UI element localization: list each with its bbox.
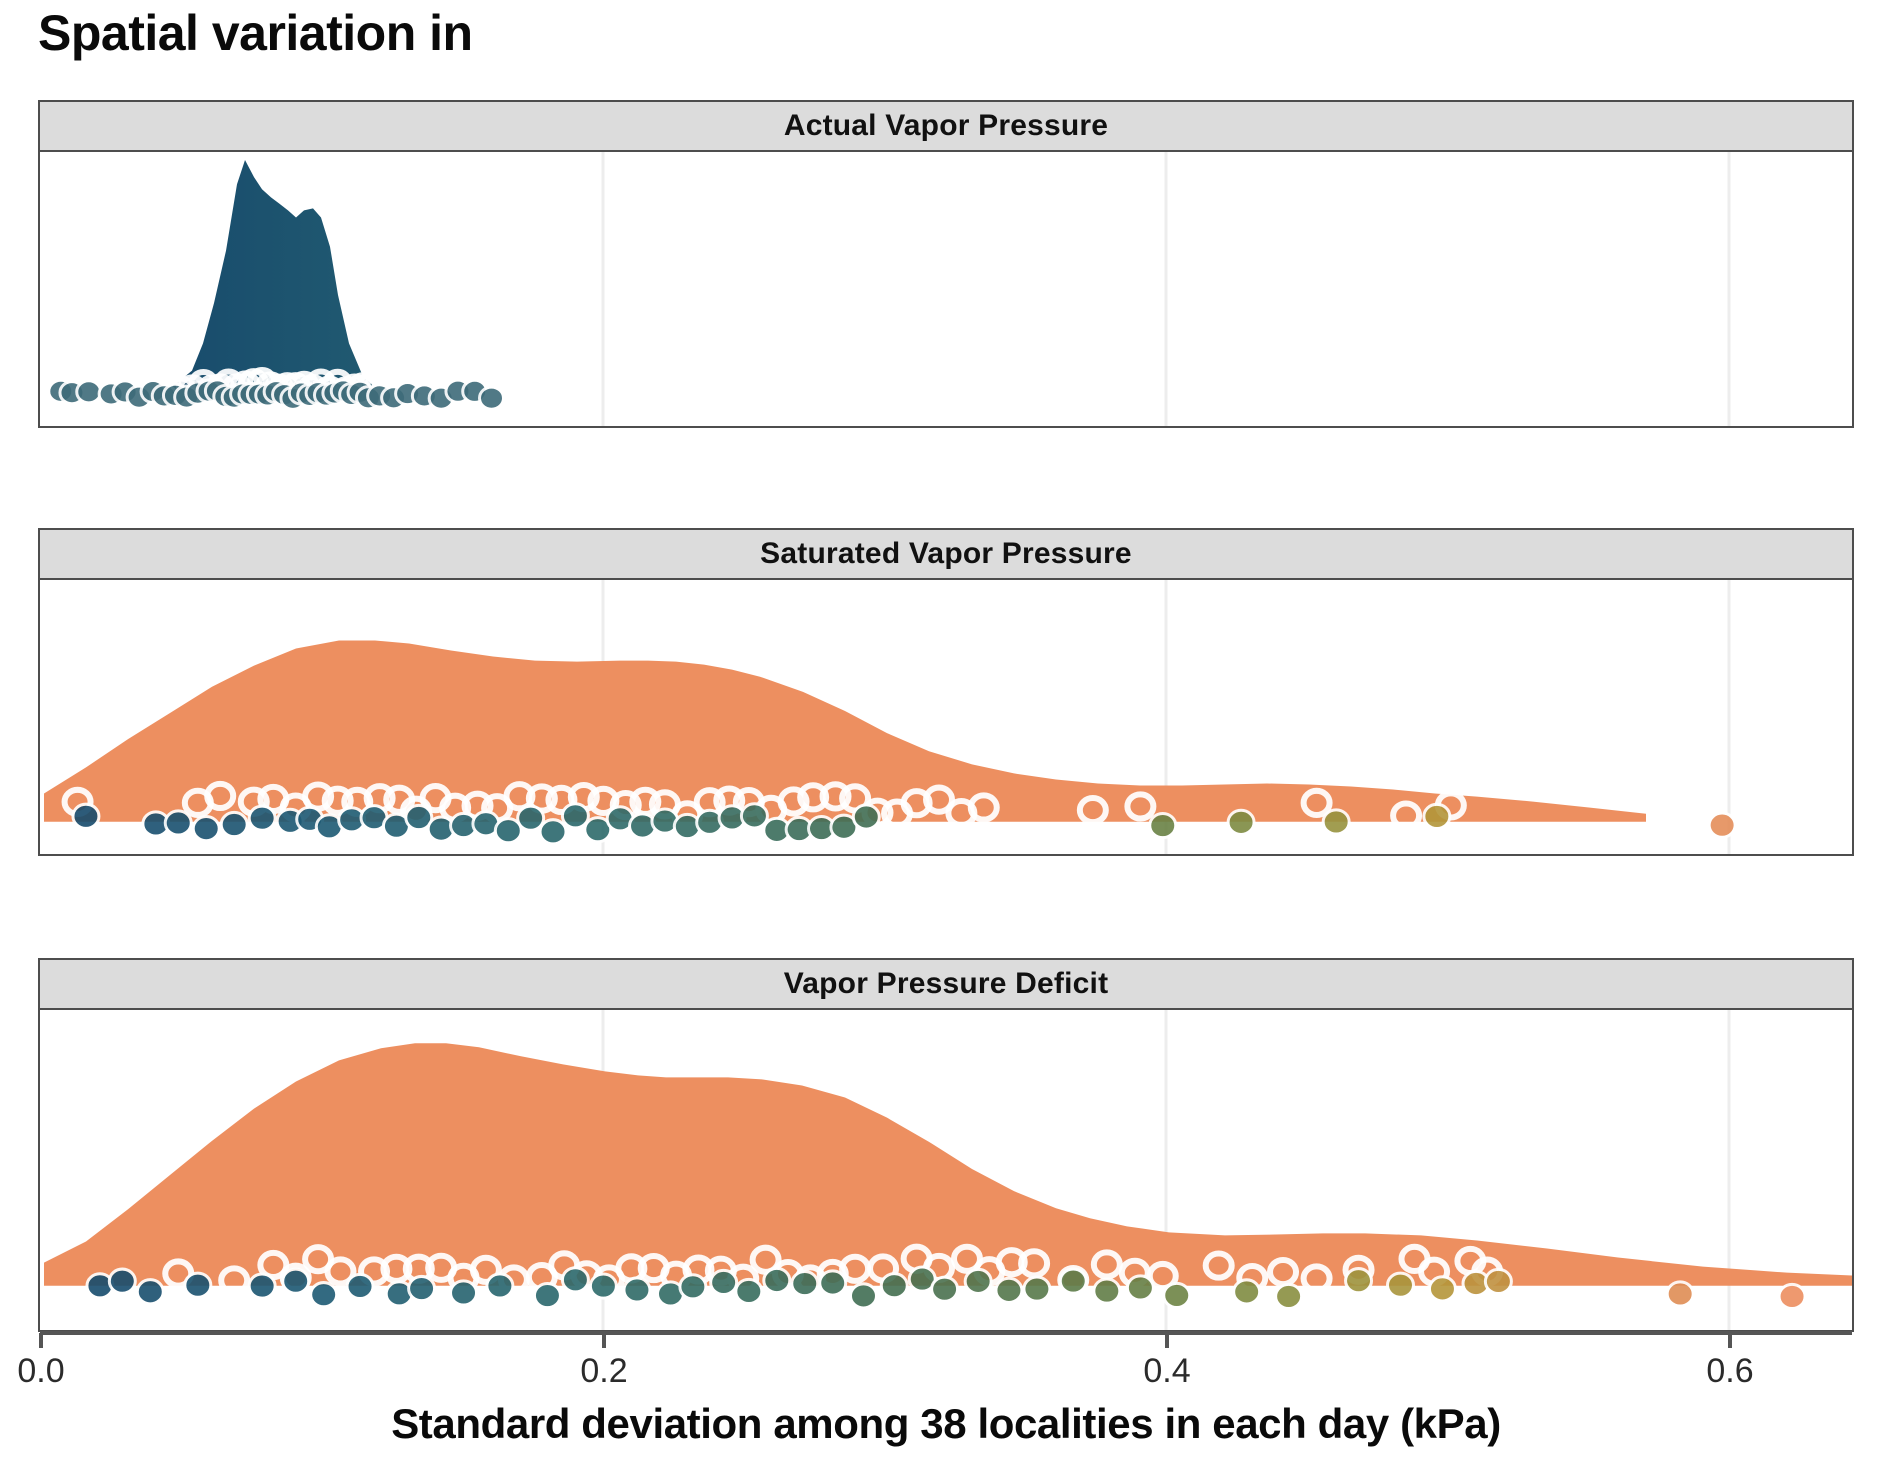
rug-filled-dot xyxy=(996,1278,1022,1302)
rug-filled-dot xyxy=(77,381,101,403)
rug-filled-dot xyxy=(347,1274,373,1298)
rug-filled-dot xyxy=(165,811,191,835)
rug-dots-vpd xyxy=(40,1010,1852,1330)
rug-open-dot xyxy=(1393,803,1419,827)
rug-filled-dot xyxy=(1424,804,1450,828)
rug-filled-dot xyxy=(853,805,879,829)
rug-filled-dot xyxy=(221,812,247,836)
x-axis-line xyxy=(38,1331,1854,1349)
panel-strip-saturated-vapor-pressure: Saturated Vapor Pressure xyxy=(38,528,1854,580)
rug-filled-dot xyxy=(1779,1284,1805,1308)
rug-filled-dot xyxy=(562,1268,588,1292)
rug-filled-dot xyxy=(741,804,767,828)
rug-filled-dot xyxy=(451,1281,477,1305)
rug-open-dot xyxy=(221,1268,247,1292)
rug-filled-dot xyxy=(1150,814,1176,838)
rug-filled-dot xyxy=(1429,1277,1455,1301)
rug-filled-dot xyxy=(820,1271,846,1295)
rug-open-dot xyxy=(1206,1254,1232,1278)
rug-filled-dot xyxy=(881,1274,907,1298)
rug-filled-dot xyxy=(711,1270,737,1294)
plot-area-actual-vapor-pressure xyxy=(38,152,1854,428)
rug-filled-dot xyxy=(137,1280,163,1304)
rug-filled-dot xyxy=(1234,1280,1260,1304)
x-axis xyxy=(38,1331,1854,1351)
rug-filled-dot xyxy=(249,1274,275,1298)
rug-open-dot xyxy=(1127,794,1153,818)
panel-saturated-vapor-pressure: Saturated Vapor Pressure xyxy=(38,528,1854,856)
rug-filled-dot xyxy=(1667,1282,1693,1306)
rug-filled-dot xyxy=(764,1268,790,1292)
rug-open-dot xyxy=(1304,1266,1330,1290)
panel-actual-vapor-pressure: Actual Vapor Pressure xyxy=(38,100,1854,428)
rug-filled-dot xyxy=(680,1275,706,1299)
rug-filled-dot xyxy=(185,1273,211,1297)
rug-filled-dot xyxy=(1164,1283,1190,1307)
rug-filled-dot xyxy=(965,1269,991,1293)
rug-filled-dot xyxy=(311,1283,337,1307)
rug-filled-dot xyxy=(409,1276,435,1300)
rug-open-dot xyxy=(1270,1260,1296,1284)
rug-filled-dot xyxy=(1024,1277,1050,1301)
rug-filled-dot xyxy=(249,806,275,830)
figure-title: Spatial variation in xyxy=(38,6,473,61)
panel-vapor-pressure-deficit: Vapor Pressure Deficit xyxy=(38,958,1854,1332)
rug-filled-dot xyxy=(109,1269,135,1293)
rug-filled-dot xyxy=(480,387,504,409)
plot-area-vapor-pressure-deficit xyxy=(38,1010,1854,1332)
rug-filled-dot xyxy=(1094,1279,1120,1303)
rug-filled-dot xyxy=(1709,813,1735,837)
plot-area-saturated-vapor-pressure xyxy=(38,580,1854,856)
x-tick-label-0: 0.0 xyxy=(17,1352,64,1391)
panel-strip-label: Actual Vapor Pressure xyxy=(784,109,1108,143)
panel-strip-actual-vapor-pressure: Actual Vapor Pressure xyxy=(38,100,1854,152)
rug-filled-dot xyxy=(1276,1284,1302,1308)
rug-filled-dot xyxy=(487,1274,513,1298)
rug-filled-dot xyxy=(1346,1269,1372,1293)
rug-filled-dot xyxy=(1387,1273,1413,1297)
rug-filled-dot xyxy=(792,1272,818,1296)
rug-filled-dot xyxy=(1228,810,1254,834)
x-tick-label-3: 0.6 xyxy=(1706,1352,1753,1391)
rug-filled-dot xyxy=(624,1278,650,1302)
rug-filled-dot xyxy=(1127,1276,1153,1300)
x-axis-title: Standard deviation among 38 localities i… xyxy=(0,1400,1892,1448)
rug-filled-dot xyxy=(73,804,99,828)
rug-filled-dot xyxy=(540,820,566,844)
rug-filled-dot xyxy=(736,1279,762,1303)
rug-dots-avp xyxy=(40,152,1852,426)
rug-open-dot xyxy=(1304,791,1330,815)
rug-filled-dot xyxy=(932,1277,958,1301)
rug-filled-dot xyxy=(1323,810,1349,834)
rug-filled-dot xyxy=(590,1274,616,1298)
panel-strip-label: Vapor Pressure Deficit xyxy=(784,967,1109,1001)
panel-strip-label: Saturated Vapor Pressure xyxy=(760,537,1132,571)
rug-filled-dot xyxy=(1060,1269,1086,1293)
rug-dots-svp xyxy=(40,580,1852,854)
x-tick-label-2: 0.4 xyxy=(1143,1352,1190,1391)
rug-filled-dot xyxy=(1485,1269,1511,1293)
rug-open-dot xyxy=(1080,798,1106,822)
rug-filled-dot xyxy=(283,1269,309,1293)
rug-filled-dot xyxy=(534,1283,560,1307)
rug-open-dot xyxy=(1094,1252,1120,1276)
panel-strip-vapor-pressure-deficit: Vapor Pressure Deficit xyxy=(38,958,1854,1010)
rug-filled-dot xyxy=(193,817,219,841)
rug-filled-dot xyxy=(850,1284,876,1308)
x-tick-label-1: 0.2 xyxy=(580,1352,627,1391)
